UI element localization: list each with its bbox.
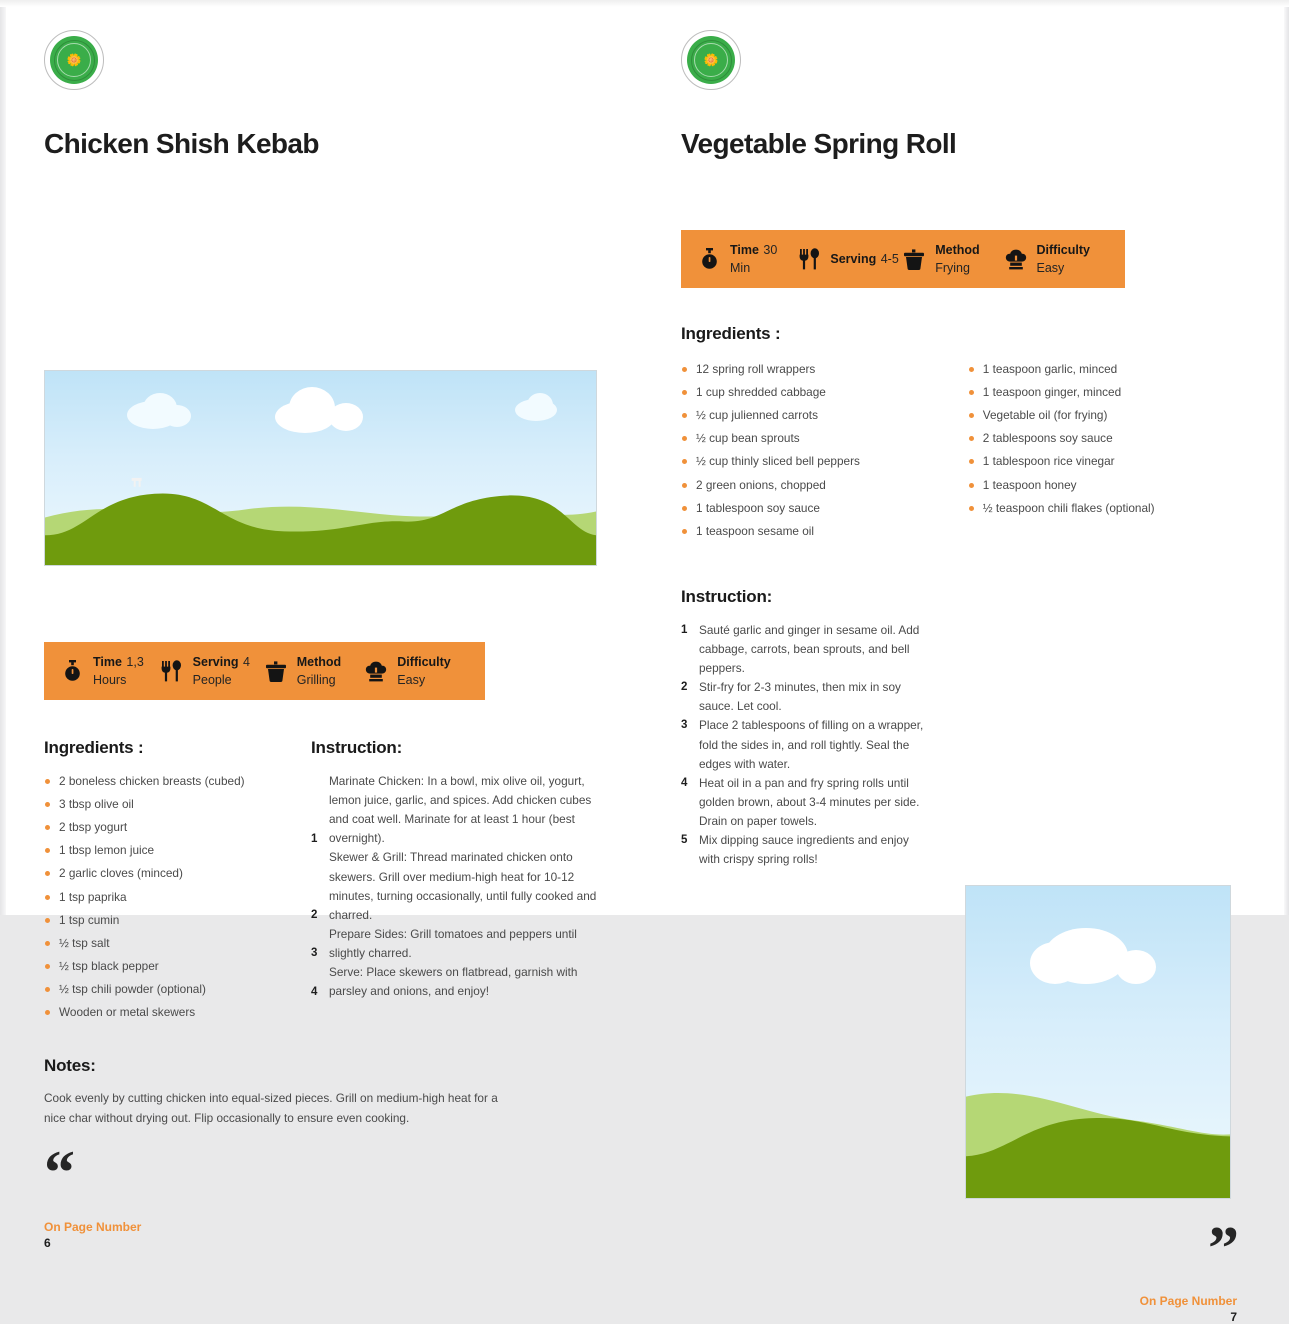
ingredient-item: 1 cup shredded cabbage: [681, 383, 968, 402]
instructions-section: Instruction: Sauté garlic and ginger in …: [681, 587, 931, 1199]
instruction-heading: Instruction:: [681, 587, 931, 607]
ingredient-item: ½ tsp black pepper: [44, 957, 311, 976]
meta-label: Method: [935, 243, 979, 257]
ingredient-item: 2 tbsp yogurt: [44, 818, 311, 837]
meta-label: Time: [93, 655, 122, 669]
ingredients-section: Ingredients : 12 spring roll wrappers1 c…: [681, 324, 1245, 545]
fork-spoon-icon: [160, 658, 184, 684]
meta-label: Time: [730, 243, 759, 257]
instruction-step: Marinate Chicken: In a bowl, mix olive o…: [311, 772, 601, 848]
ingredient-item: 1 tsp paprika: [44, 888, 311, 907]
recipe-meta-bar: Time 30 Min Serving 4-5: [681, 176, 1245, 288]
notes-heading: Notes:: [44, 1056, 514, 1076]
pot-icon: [902, 246, 926, 272]
ingredient-item: 3 tbsp olive oil: [44, 795, 311, 814]
page-title: Vegetable Spring Roll: [681, 128, 1245, 160]
right-page: COOKING OIL GUIDE GOOD FOOD, GOOD FEELIN…: [645, 0, 1289, 915]
ingredient-item: ½ tsp chili powder (optional): [44, 980, 311, 999]
meta-item-time: Time 1,3 Hours: [60, 653, 160, 689]
ingredients-list-col2: 1 teaspoon garlic, minced1 teaspoon ging…: [968, 360, 1245, 545]
brand-logo: COOKING OIL GUIDE GOOD FOOD, GOOD FEELIN…: [681, 30, 741, 90]
recipe-photo: [44, 174, 601, 566]
instruction-step: Place 2 tablespoons of filling on a wrap…: [681, 716, 931, 773]
ingredient-item: 2 green onions, chopped: [681, 476, 968, 495]
stopwatch-icon: [697, 246, 721, 272]
left-page: COOKING OIL GUIDE GOOD FOOD, GOOD FEELIN…: [0, 0, 645, 915]
instructions-section: Instruction: Marinate Chicken: In a bowl…: [311, 738, 601, 1026]
instruction-heading: Instruction:: [311, 738, 601, 758]
instruction-list: Sauté garlic and ginger in sesame oil. A…: [681, 621, 931, 869]
instruction-list: Marinate Chicken: In a bowl, mix olive o…: [311, 772, 601, 1001]
page-number: 7: [681, 1310, 1237, 1324]
ingredients-section: Ingredients : 2 boneless chicken breasts…: [44, 738, 311, 1026]
instruction-step: Sauté garlic and ginger in sesame oil. A…: [681, 621, 931, 678]
meta-item-time: Time 30 Min: [697, 241, 797, 277]
instruction-step: Skewer & Grill: Thread marinated chicken…: [311, 848, 601, 924]
ingredient-item: 1 tablespoon rice vinegar: [968, 452, 1245, 471]
ingredient-item: 1 teaspoon honey: [968, 476, 1245, 495]
ingredient-item: ½ cup julienned carrots: [681, 406, 968, 425]
ingredient-item: 1 tsp cumin: [44, 911, 311, 930]
meta-item-method: Method Frying: [902, 241, 1003, 277]
meta-value: Frying: [935, 261, 970, 275]
meta-value: Easy: [397, 673, 425, 687]
sprig-icon: 🌼: [67, 54, 82, 66]
meta-label: Method: [297, 655, 341, 669]
meta-item-serving: Serving 4 People: [160, 653, 264, 689]
page-number: 6: [44, 1236, 601, 1250]
notes-body: Cook evenly by cutting chicken into equa…: [44, 1088, 514, 1129]
ingredient-item: 1 tablespoon soy sauce: [681, 499, 968, 518]
page-label: On Page Number: [681, 1294, 1237, 1308]
recipe-photo: [965, 571, 1231, 1199]
logo-disc: 🌼: [50, 36, 98, 84]
ingredient-item: Vegetable oil (for frying): [968, 406, 1245, 425]
ingredient-item: 12 spring roll wrappers: [681, 360, 968, 379]
right-gutter: [1284, 0, 1289, 915]
ingredient-item: ½ teaspoon chili flakes (optional): [968, 499, 1245, 518]
quote-mark: “: [44, 1155, 601, 1198]
instruction-step: Prepare Sides: Grill tomatoes and pepper…: [311, 925, 601, 963]
instruction-step: Stir-fry for 2-3 minutes, then mix in so…: [681, 678, 931, 716]
pot-icon: [264, 658, 288, 684]
ingredient-item: Wooden or metal skewers: [44, 1003, 311, 1022]
fork-spoon-icon: [797, 246, 821, 272]
ingredient-item: ½ tsp salt: [44, 934, 311, 953]
meta-label: Serving: [830, 252, 876, 266]
meta-value: Grilling: [297, 673, 336, 687]
instruction-step: Heat oil in a pan and fry spring rolls u…: [681, 774, 931, 831]
ingredients-heading: Ingredients :: [44, 738, 311, 758]
chef-hat-icon: [364, 658, 388, 684]
ingredient-item: 1 teaspoon sesame oil: [681, 522, 968, 541]
ingredient-item: 2 boneless chicken breasts (cubed): [44, 772, 311, 791]
instruction-step: Mix dipping sauce ingredients and enjoy …: [681, 831, 931, 869]
ingredient-item: 1 teaspoon ginger, minced: [968, 383, 1245, 402]
meta-item-method: Method Grilling: [264, 653, 365, 689]
chef-hat-icon: [1004, 246, 1028, 272]
meta-item-difficulty: Difficulty Easy: [1004, 241, 1109, 277]
logo-disc: 🌼: [687, 36, 735, 84]
recipe-meta-bar: Time 1,3 Hours Serving 4 People: [44, 588, 601, 700]
quote-mark: ”: [681, 1231, 1245, 1274]
brand-logo: COOKING OIL GUIDE GOOD FOOD, GOOD FEELIN…: [44, 30, 104, 90]
sprig-icon: 🌼: [704, 54, 719, 66]
meta-value: 4-5: [881, 252, 899, 266]
ingredient-item: ½ cup thinly sliced bell peppers: [681, 452, 968, 471]
ingredient-item: 1 tbsp lemon juice: [44, 841, 311, 860]
meta-item-difficulty: Difficulty Easy: [364, 653, 469, 689]
page-footer: On Page Number 6: [44, 1220, 601, 1250]
meta-label: Difficulty: [1037, 243, 1090, 257]
recipe-spread: COOKING OIL GUIDE GOOD FOOD, GOOD FEELIN…: [0, 0, 1289, 915]
notes-section: Notes: Cook evenly by cutting chicken in…: [44, 1056, 514, 1129]
meta-value: Easy: [1037, 261, 1065, 275]
left-gutter: [0, 0, 6, 915]
page-footer: On Page Number 7: [681, 1294, 1245, 1324]
page-title: Chicken Shish Kebab: [44, 128, 601, 160]
meta-label: Difficulty: [397, 655, 450, 669]
stopwatch-icon: [60, 658, 84, 684]
page-label: On Page Number: [44, 1220, 601, 1234]
meta-item-serving: Serving 4-5: [797, 246, 902, 272]
ingredients-list-col1: 12 spring roll wrappers1 cup shredded ca…: [681, 360, 968, 545]
instruction-step: Serve: Place skewers on flatbread, garni…: [311, 963, 601, 1001]
ingredient-item: ½ cup bean sprouts: [681, 429, 968, 448]
ingredient-item: 2 garlic cloves (minced): [44, 864, 311, 883]
ingredients-heading: Ingredients :: [681, 324, 1245, 344]
ingredient-item: 2 tablespoons soy sauce: [968, 429, 1245, 448]
ingredient-item: 1 teaspoon garlic, minced: [968, 360, 1245, 379]
ingredients-list: 2 boneless chicken breasts (cubed)3 tbsp…: [44, 772, 311, 1022]
meta-label: Serving: [193, 655, 239, 669]
